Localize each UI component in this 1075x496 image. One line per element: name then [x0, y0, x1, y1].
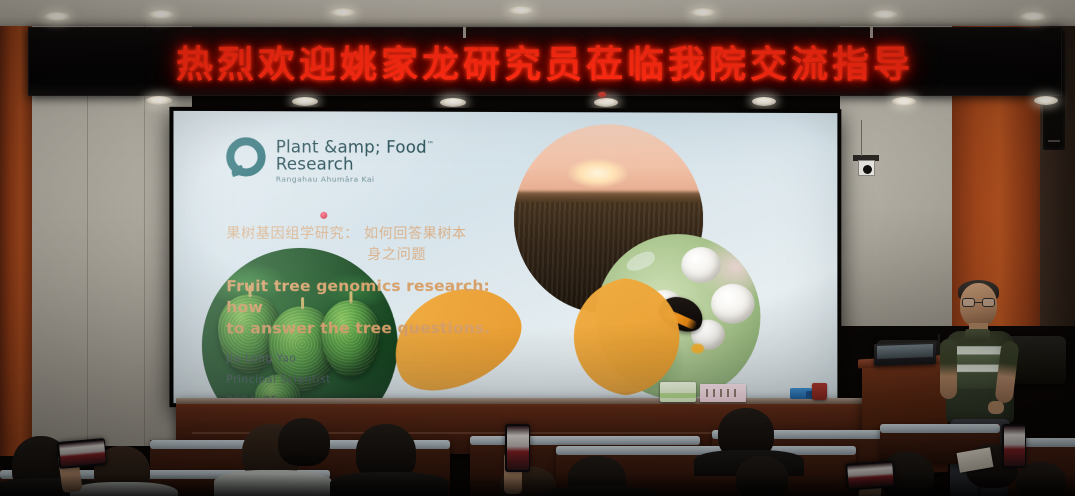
ceiling-downlight	[44, 12, 70, 21]
ceiling-downlight	[330, 8, 356, 17]
ceiling-downlight	[292, 97, 318, 106]
slide-title-en-line2: to answer the tree questions.	[226, 318, 528, 340]
logo-leaf-icon	[230, 165, 244, 177]
presenter-name: Jia-Long Yao	[226, 348, 331, 370]
ceiling-downlight	[1034, 96, 1058, 105]
audience-head	[736, 456, 788, 496]
ceiling-downlight	[752, 97, 776, 106]
banner-status-light	[598, 92, 606, 97]
logo-line2: Research	[276, 156, 434, 173]
ceiling-downlight	[148, 10, 174, 19]
ceiling-downlight	[690, 8, 716, 17]
audience-shoulders	[214, 470, 332, 496]
presenter-arm	[940, 339, 957, 399]
red-cup	[812, 383, 827, 400]
logo-ring-icon	[226, 137, 265, 176]
slide-title-chinese: 果树基因组学研究： 如何回答果树本 身之问题	[226, 224, 528, 266]
banner-bracket-right	[870, 27, 873, 38]
audience-phone[interactable]	[505, 424, 530, 472]
audience-shoulders	[70, 482, 178, 496]
presenter-hand	[988, 401, 1004, 414]
slide-red-dot-marker	[320, 212, 327, 219]
slide-title-english: Fruit tree genomics research: how to ans…	[226, 276, 528, 340]
led-banner-text: 热烈欢迎姚家龙研究员莅临我院交流指导	[29, 33, 1061, 87]
ceiling-downlight	[146, 96, 172, 105]
presenter-role: Principal Scientist	[226, 370, 331, 392]
audience-phone[interactable]	[57, 438, 107, 469]
presentation-slide[interactable]: Plant &amp; Food™ Research Rangahau Ahum…	[173, 111, 837, 403]
ceiling-downlight	[892, 97, 916, 106]
ceiling-downlight	[594, 98, 618, 107]
audience-phone[interactable]	[1002, 424, 1026, 468]
logo-trademark: ™	[427, 140, 434, 148]
tissue-box	[660, 382, 696, 402]
wall-camera	[853, 155, 879, 177]
audience-phone[interactable]	[845, 460, 895, 490]
podium-laptop	[874, 342, 936, 366]
plant-and-food-research-logo: Plant &amp; Food™ Research Rangahau Ahum…	[226, 137, 434, 183]
logo-maori-subtitle: Rangahau Ahumāra Kai	[276, 175, 434, 183]
slide-presenter-block: Jia-Long Yao Principal Scientist 2024. 0…	[226, 348, 331, 403]
camera-mount-wire	[861, 120, 862, 156]
projection-screen-frame: Plant &amp; Food™ Research Rangahau Ahum…	[169, 107, 841, 407]
led-welcome-banner: 热烈欢迎姚家龙研究员莅临我院交流指导	[28, 27, 1062, 96]
slide-title-cn-line1: 果树基因组学研究： 如何回答果树本	[226, 226, 466, 242]
lecture-hall-scene: 热烈欢迎姚家龙研究员莅临我院交流指导 Plant &amp; Food™ Res…	[0, 0, 1075, 496]
slide-title-cn-line2: 身之问题	[226, 245, 528, 266]
ceiling-downlight	[1020, 12, 1046, 21]
sun-glow	[567, 159, 629, 189]
ceiling-downlight	[508, 6, 534, 15]
audience-shoulders	[542, 486, 658, 496]
eyeglasses-icon	[962, 298, 995, 307]
ceiling-downlight	[872, 10, 898, 19]
audience-shoulders	[330, 472, 448, 496]
ceiling-downlight	[440, 98, 466, 107]
name-card	[700, 384, 746, 402]
slide-title-en-line1: Fruit tree genomics research: how	[226, 276, 528, 319]
banner-bracket-left	[463, 27, 466, 38]
audience-head	[278, 418, 330, 466]
